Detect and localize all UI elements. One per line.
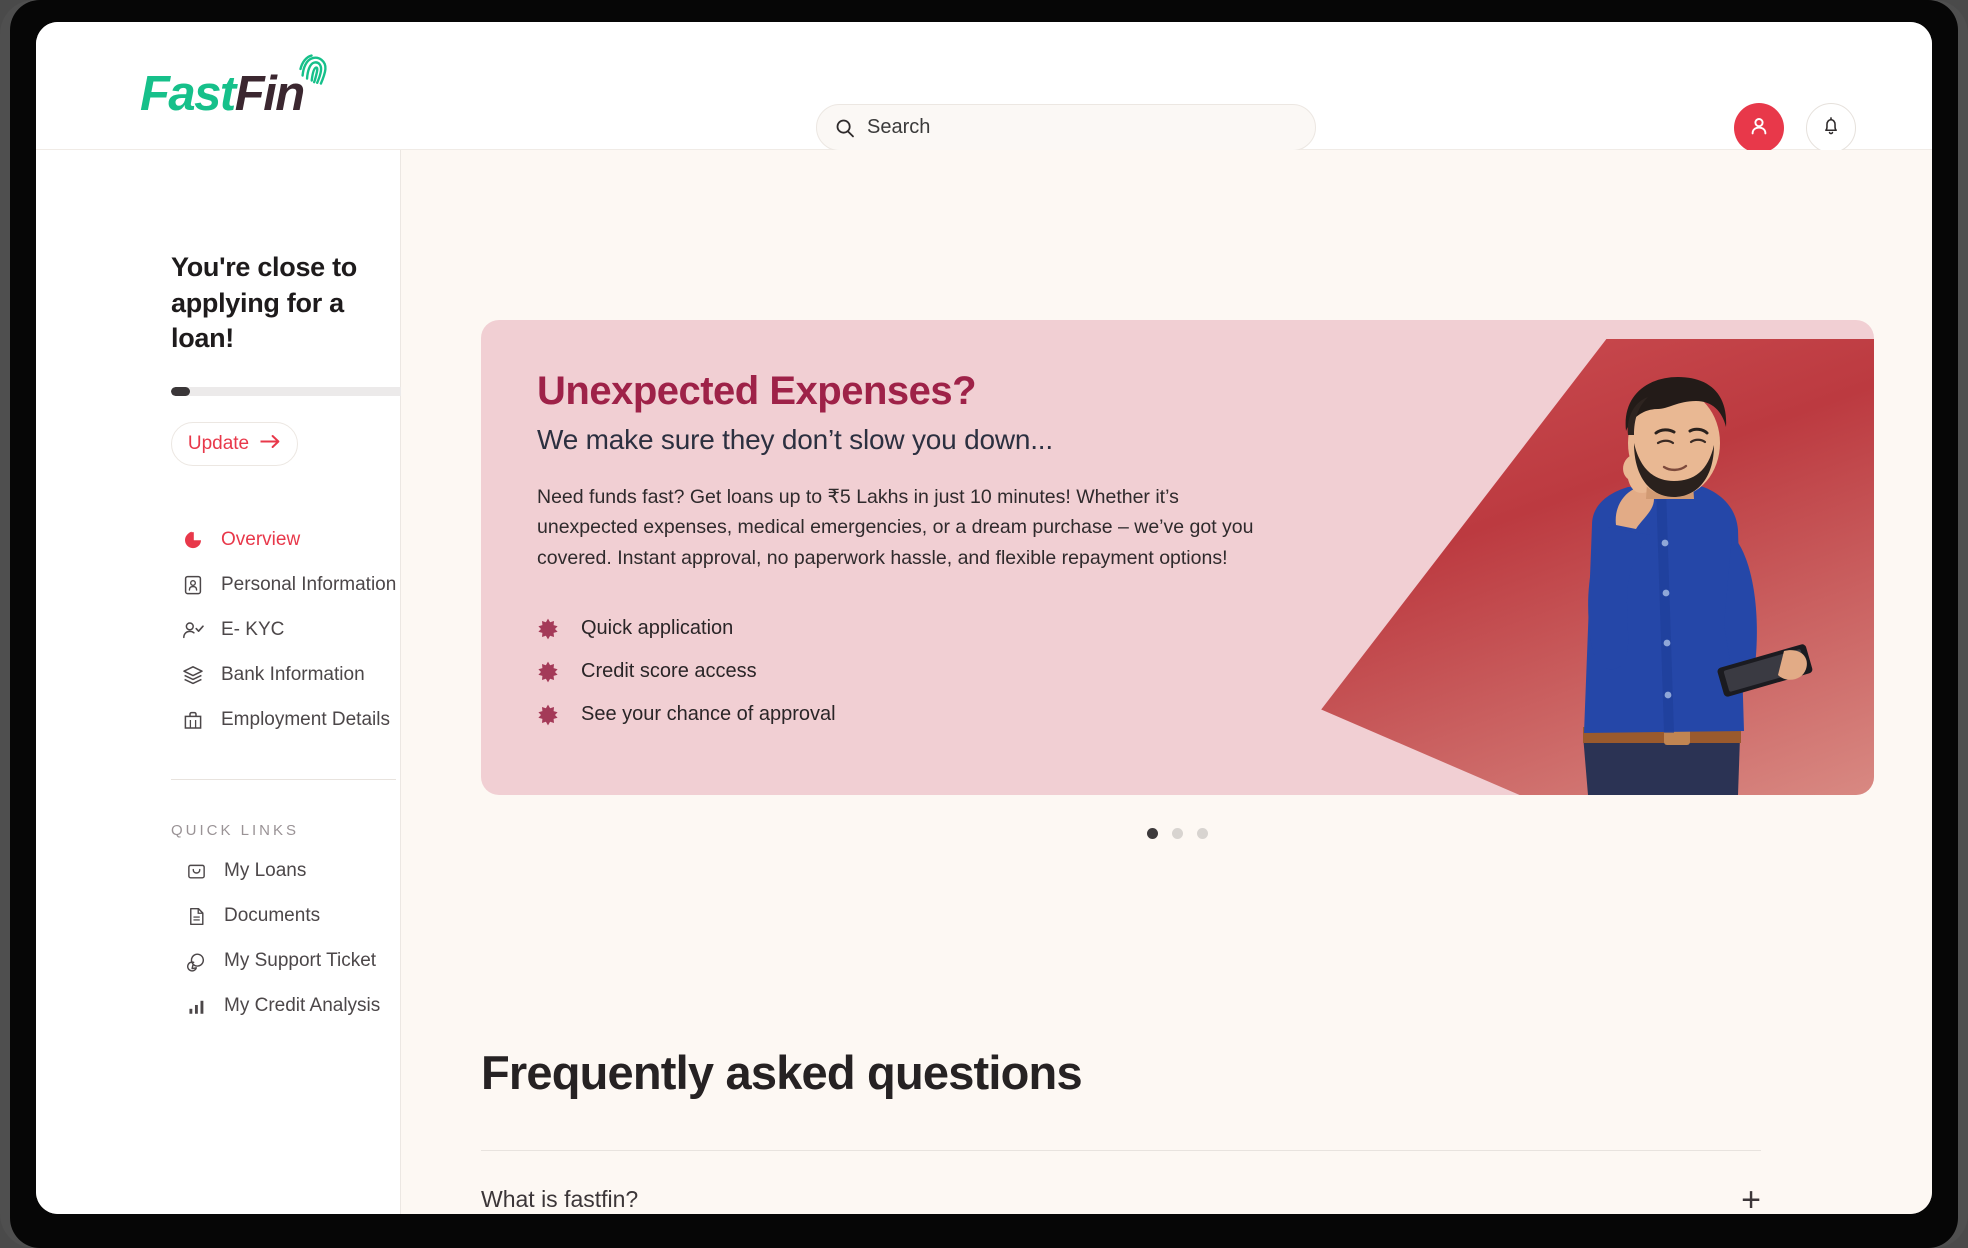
user-icon bbox=[1747, 114, 1771, 143]
banner-text-block: Unexpected Expenses? We make sure they d… bbox=[537, 368, 1237, 736]
briefcase-icon bbox=[181, 708, 205, 732]
banner-person-illustration bbox=[1488, 375, 1818, 795]
id-card-icon bbox=[181, 573, 205, 597]
faq-item[interactable]: What is fastfin? + bbox=[481, 1150, 1761, 1214]
inbox-icon bbox=[184, 859, 208, 883]
list-item: Quick application bbox=[537, 607, 1237, 650]
promo-heading: You're close to applying for a loan! bbox=[171, 250, 360, 357]
quick-link-label: My Credit Analysis bbox=[224, 995, 380, 1017]
top-bar: FastFin bbox=[36, 22, 1932, 150]
app-screen: FastFin bbox=[36, 22, 1932, 1214]
promo-banner[interactable]: Unexpected Expenses? We make sure they d… bbox=[481, 320, 1874, 795]
carousel-dot-1[interactable] bbox=[1147, 828, 1158, 839]
quick-link-label: My Support Ticket bbox=[224, 950, 376, 972]
carousel-dot-2[interactable] bbox=[1172, 828, 1183, 839]
promo-heading-line2: applying for a loan! bbox=[171, 286, 360, 357]
faq-list: What is fastfin? + How to download fastf… bbox=[481, 1150, 1761, 1214]
layers-icon bbox=[181, 663, 205, 687]
sidebar-item-label: Personal Information bbox=[221, 574, 396, 596]
chat-icon bbox=[184, 949, 208, 973]
update-button[interactable]: Update bbox=[171, 422, 298, 466]
sidebar: You're close to applying for a loan! Upd… bbox=[36, 150, 401, 1214]
update-button-label: Update bbox=[188, 433, 249, 455]
sidebar-item-my-loans[interactable]: My Loans bbox=[36, 849, 400, 894]
list-item: See your chance of approval bbox=[537, 693, 1237, 736]
list-item: Credit score access bbox=[537, 650, 1237, 693]
application-progress-bar bbox=[171, 387, 411, 396]
sidebar-item-label: Overview bbox=[221, 529, 300, 551]
quick-link-label: My Loans bbox=[224, 860, 306, 882]
sidebar-item-e-kyc[interactable]: E- KYC bbox=[36, 608, 400, 653]
sidebar-item-employment-details[interactable]: Employment Details bbox=[36, 698, 400, 743]
sidebar-divider bbox=[171, 779, 396, 780]
carousel-dots[interactable] bbox=[481, 828, 1874, 839]
sidebar-item-label: Bank Information bbox=[221, 664, 365, 686]
promo-heading-line1: You're close to bbox=[171, 250, 360, 286]
logo-text-fast: Fast bbox=[140, 67, 235, 121]
main-content: Unexpected Expenses? We make sure they d… bbox=[401, 150, 1932, 1214]
carousel-dot-3[interactable] bbox=[1197, 828, 1208, 839]
banner-feature-list: Quick application Credit score access bbox=[537, 607, 1237, 736]
starburst-icon bbox=[537, 618, 559, 640]
starburst-icon bbox=[537, 661, 559, 683]
banner-body-text: Need funds fast? Get loans up to ₹5 Lakh… bbox=[537, 482, 1282, 573]
bell-icon bbox=[1820, 115, 1842, 142]
sidebar-item-my-support-ticket[interactable]: My Support Ticket bbox=[36, 939, 400, 984]
avatar[interactable] bbox=[1734, 103, 1784, 153]
quick-links-list: My Loans Documents bbox=[36, 849, 400, 1029]
search-bar[interactable]: Search bbox=[816, 104, 1316, 151]
sidebar-item-my-credit-analysis[interactable]: My Credit Analysis bbox=[36, 984, 400, 1029]
sidebar-item-documents[interactable]: Documents bbox=[36, 894, 400, 939]
logo-text-fin: Fin bbox=[235, 67, 304, 121]
fingerprint-icon bbox=[298, 52, 332, 93]
list-item-label: Credit score access bbox=[581, 660, 757, 683]
faq-heading: Frequently asked questions bbox=[481, 1045, 1082, 1100]
search-input[interactable]: Search bbox=[867, 116, 930, 139]
starburst-icon bbox=[537, 704, 559, 726]
brand-logo[interactable]: FastFin bbox=[140, 70, 332, 119]
quick-link-label: Documents bbox=[224, 905, 320, 927]
sidebar-item-label: Employment Details bbox=[221, 709, 390, 731]
pie-chart-icon bbox=[181, 528, 205, 552]
faq-question: What is fastfin? bbox=[481, 1186, 638, 1213]
user-check-icon bbox=[181, 618, 205, 642]
banner-heading: Unexpected Expenses? bbox=[537, 368, 1237, 414]
device-bezel: FastFin bbox=[10, 0, 1958, 1248]
banner-subheading: We make sure they don’t slow you down... bbox=[537, 424, 1237, 456]
device-frame-outer: FastFin bbox=[0, 0, 1968, 1248]
sidebar-item-overview[interactable]: Overview bbox=[36, 518, 400, 563]
notifications-button[interactable] bbox=[1806, 103, 1856, 153]
arrow-right-icon bbox=[259, 434, 281, 454]
plus-icon[interactable]: + bbox=[1741, 1183, 1761, 1215]
bar-chart-icon bbox=[184, 994, 208, 1018]
list-item-label: Quick application bbox=[581, 617, 733, 640]
application-progress-fill bbox=[171, 387, 190, 396]
document-icon bbox=[184, 904, 208, 928]
sidebar-nav: Overview Personal Information bbox=[36, 518, 400, 743]
list-item-label: See your chance of approval bbox=[581, 703, 836, 726]
quick-links-heading: QUICK LINKS bbox=[171, 822, 400, 839]
sidebar-item-personal-information[interactable]: Personal Information bbox=[36, 563, 400, 608]
sidebar-item-label: E- KYC bbox=[221, 619, 284, 641]
search-icon bbox=[835, 118, 855, 138]
sidebar-item-bank-information[interactable]: Bank Information bbox=[36, 653, 400, 698]
